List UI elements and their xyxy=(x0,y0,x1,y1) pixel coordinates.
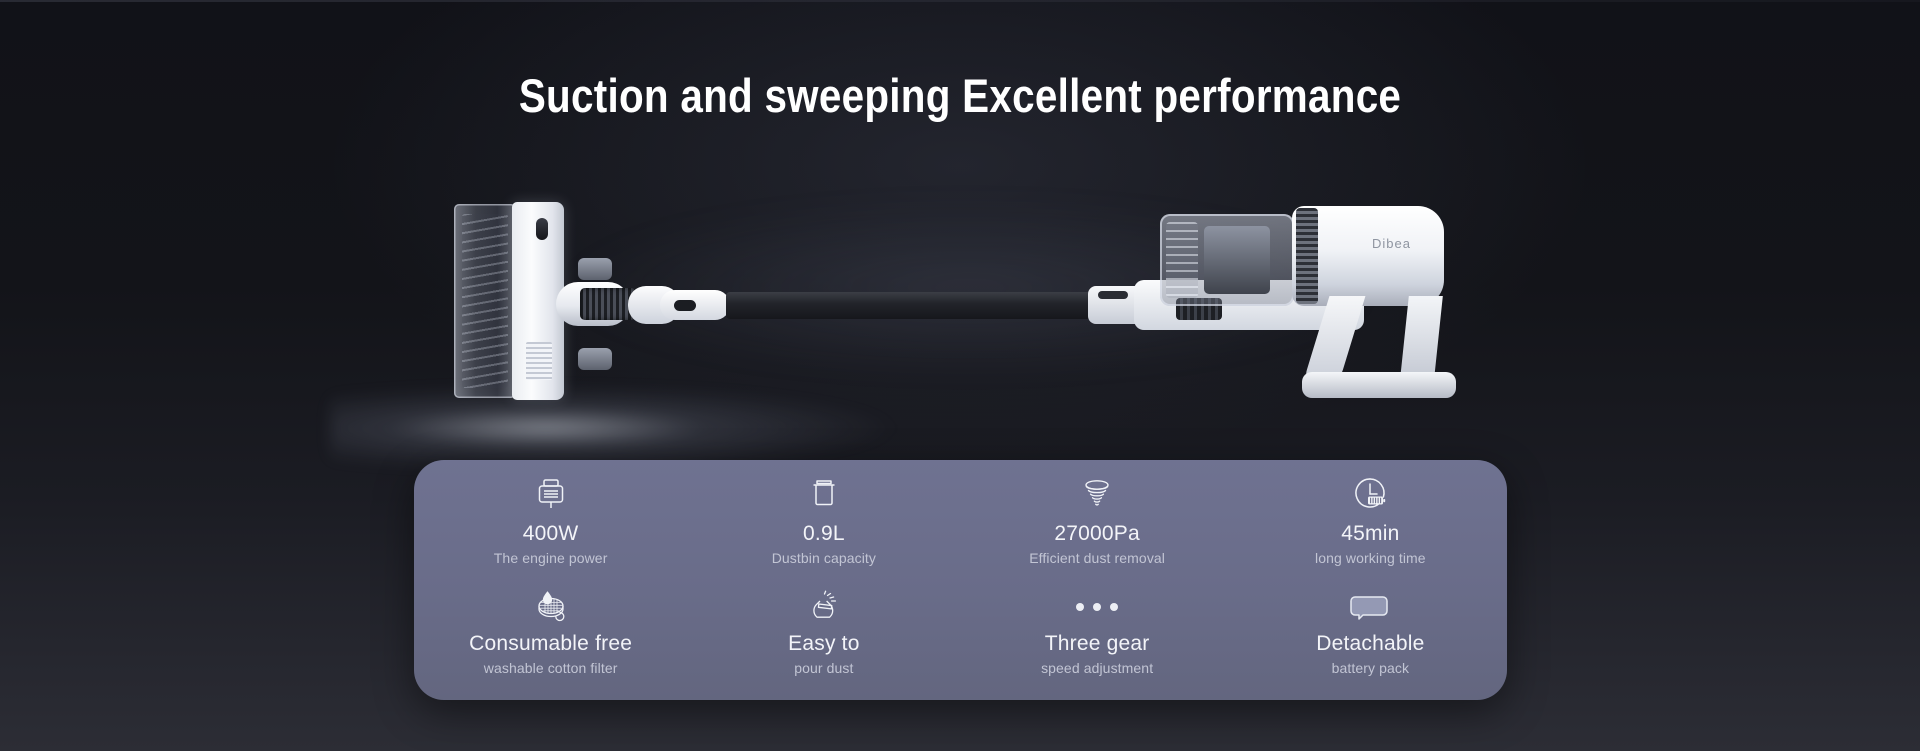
feature-item-easy-pour: Easy to pour dust xyxy=(687,580,960,676)
handle-rear-post xyxy=(1399,296,1443,388)
feature-panel: 400W The engine power 0.9L Dustbin capac… xyxy=(414,460,1507,700)
feature-item-dustbin-capacity: 0.9L Dustbin capacity xyxy=(687,460,960,566)
brush-head-wheel-top xyxy=(578,258,612,280)
dust-cup-ribs xyxy=(1166,222,1198,298)
top-hairline xyxy=(0,0,1920,2)
pour-dust-icon xyxy=(806,588,842,626)
dot-3 xyxy=(1110,603,1118,611)
motor-housing xyxy=(1292,206,1444,306)
brush-head-transparent-cover xyxy=(454,204,516,398)
feature-value: Consumable free xyxy=(469,632,632,655)
dot-1 xyxy=(1076,603,1084,611)
feature-grid: 400W The engine power 0.9L Dustbin capac… xyxy=(414,460,1507,700)
swivel-joint xyxy=(628,286,680,324)
handle-base xyxy=(1302,372,1456,398)
feature-caption: speed adjustment xyxy=(1041,661,1153,676)
feature-caption: Dustbin capacity xyxy=(772,551,876,566)
feature-value: Easy to xyxy=(788,632,859,655)
feature-item-engine-power: 400W The engine power xyxy=(414,460,687,566)
cyclone-core xyxy=(1204,226,1270,294)
wand-collar-lower xyxy=(660,290,730,320)
page-title: Suction and sweeping Excellent performan… xyxy=(134,68,1785,123)
cyclone-icon xyxy=(1078,474,1116,514)
product-halo xyxy=(380,150,1560,400)
brand-label: Dibea xyxy=(1372,236,1411,251)
clock-battery-icon xyxy=(1351,474,1389,514)
wand-collar-upper xyxy=(1088,286,1144,324)
motor-vent-ring xyxy=(1296,208,1318,304)
extension-wand xyxy=(726,292,1094,319)
brush-head-body xyxy=(512,202,564,400)
feature-value: 0.9L xyxy=(803,522,845,545)
dustbin-icon xyxy=(806,474,842,514)
product-feature-banner: Suction and sweeping Excellent performan… xyxy=(0,0,1920,751)
feature-caption: The engine power xyxy=(494,551,608,566)
handle-front-post xyxy=(1303,296,1366,384)
feature-item-consumable-free: Consumable free washable cotton filter xyxy=(414,580,687,676)
feature-item-detachable-battery: Detachable battery pack xyxy=(1234,580,1507,676)
feature-caption: Efficient dust removal xyxy=(1029,551,1165,566)
body-grip-pad xyxy=(1176,298,1222,320)
motor-icon xyxy=(533,474,569,514)
dust-cup xyxy=(1160,214,1294,306)
brush-head-button xyxy=(536,218,548,240)
feature-item-suction-power: 27000Pa Efficient dust removal xyxy=(961,460,1234,566)
feature-value: 27000Pa xyxy=(1054,522,1139,545)
feature-value: 400W xyxy=(523,522,579,545)
brush-head-wheel-bottom xyxy=(578,348,612,370)
feature-item-working-time: 45min long working time xyxy=(1234,460,1507,566)
feature-item-three-gear: Three gear speed adjustment xyxy=(961,580,1234,676)
feature-caption: battery pack xyxy=(1332,661,1409,676)
three-dots-icon xyxy=(1076,588,1118,626)
brush-head-neck xyxy=(556,282,630,326)
feature-caption: long working time xyxy=(1315,551,1426,566)
feature-value: Detachable xyxy=(1316,632,1424,655)
battery-pack-icon xyxy=(1349,588,1391,626)
washable-filter-icon xyxy=(532,588,570,626)
feature-caption: pour dust xyxy=(794,661,853,676)
feature-caption: washable cotton filter xyxy=(484,661,618,676)
roller-brush xyxy=(580,288,636,320)
main-body-bridge xyxy=(1134,280,1364,330)
dot-2 xyxy=(1093,603,1101,611)
feature-value: 45min xyxy=(1341,522,1399,545)
feature-value: Three gear xyxy=(1045,632,1150,655)
brush-head-vent xyxy=(526,342,552,380)
